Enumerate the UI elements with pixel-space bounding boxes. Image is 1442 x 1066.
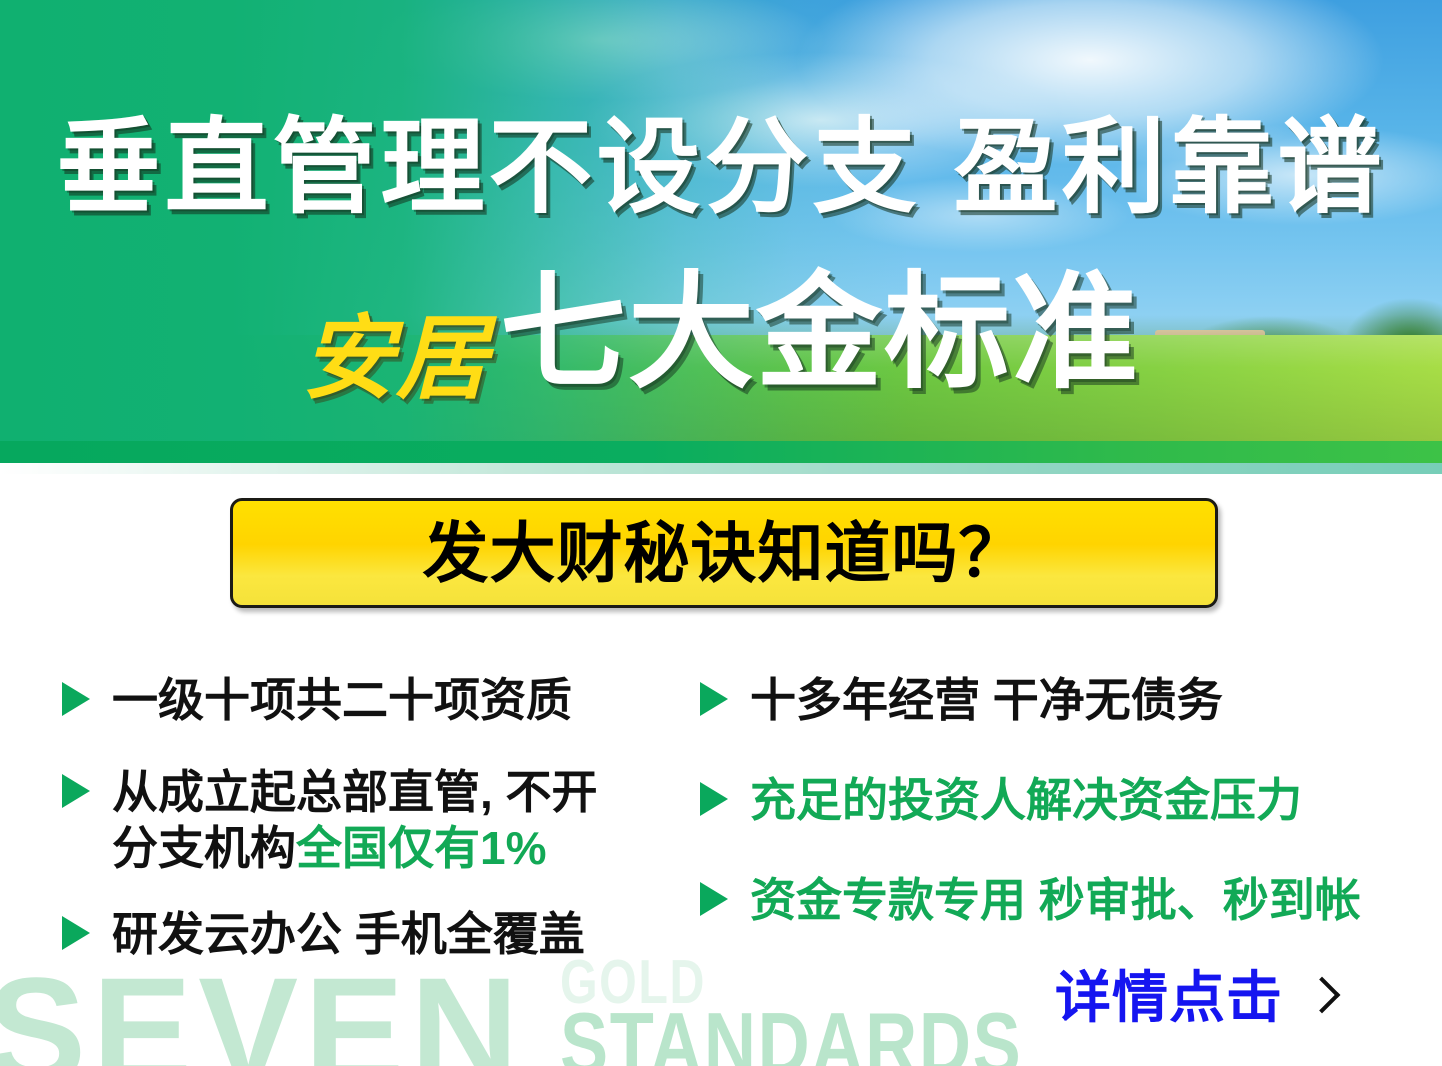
details-cta-label: 详情点击 xyxy=(1055,968,1283,1028)
list-item: 一级十项共二十项资质 xyxy=(62,672,682,728)
chevron-right-icon xyxy=(1305,974,1335,1022)
hero-headline-secondary-text: 七大金标准 xyxy=(500,270,1140,396)
callout-banner-label: 发大财秘诀知道吗？ xyxy=(423,518,1026,588)
list-item: 从成立起总部直管, 不开 分支机构全国仅有1% xyxy=(62,764,682,876)
feature-line-highlight: 全国仅有1% xyxy=(296,822,546,874)
hero-section: 垂直管理不设分支 盈利靠谱 安居七大金标准 xyxy=(0,0,1442,463)
feature-line: 从成立起总部直管, 不开 xyxy=(112,764,598,820)
list-item: 资金专款专用 秒审批、秒到帐 xyxy=(700,872,1400,928)
feature-text: 一级十项共二十项资质 xyxy=(112,672,572,728)
list-item: 充足的投资人解决资金压力 xyxy=(700,772,1400,828)
hero-headline-brand-accent: 安居 xyxy=(302,296,490,422)
callout-banner[interactable]: 发大财秘诀知道吗？ xyxy=(230,498,1218,608)
hero-headline-secondary: 安居七大金标准 xyxy=(0,270,1442,435)
promotional-banner: 垂直管理不设分支 盈利靠谱 安居七大金标准 发大财秘诀知道吗？ 一级十项共二十项… xyxy=(0,0,1442,1066)
hero-bottom-strip xyxy=(0,441,1442,463)
triangle-bullet-icon xyxy=(700,682,728,716)
triangle-bullet-icon xyxy=(62,682,90,716)
feature-line-second: 分支机构全国仅有1% xyxy=(112,820,598,876)
feature-text: 十多年经营 干净无债务 xyxy=(750,672,1223,728)
feature-line: 一级十项共二十项资质 xyxy=(112,672,572,728)
triangle-bullet-icon xyxy=(62,774,90,808)
feature-line-plain: 分支机构 xyxy=(112,822,296,874)
details-cta-button[interactable]: 详情点击 xyxy=(1055,968,1335,1028)
feature-text: 从成立起总部直管, 不开 分支机构全国仅有1% xyxy=(112,764,598,876)
triangle-bullet-icon xyxy=(62,916,90,950)
watermark-standards: STANDARDS xyxy=(560,1000,1022,1066)
feature-text: 充足的投资人解决资金压力 xyxy=(750,772,1302,828)
hero-headline-primary: 垂直管理不设分支 盈利靠谱 xyxy=(0,114,1442,222)
feature-list-right: 十多年经营 干净无债务 充足的投资人解决资金压力 资金专款专用 秒审批、秒到帐 xyxy=(700,672,1400,962)
watermark-seven: SEVEN xyxy=(0,955,525,1066)
triangle-bullet-icon xyxy=(700,882,728,916)
list-item: 十多年经营 干净无债务 xyxy=(700,672,1400,728)
hero-fade-strip xyxy=(0,463,1442,474)
feature-text: 资金专款专用 秒审批、秒到帐 xyxy=(750,872,1361,928)
triangle-bullet-icon xyxy=(700,782,728,816)
